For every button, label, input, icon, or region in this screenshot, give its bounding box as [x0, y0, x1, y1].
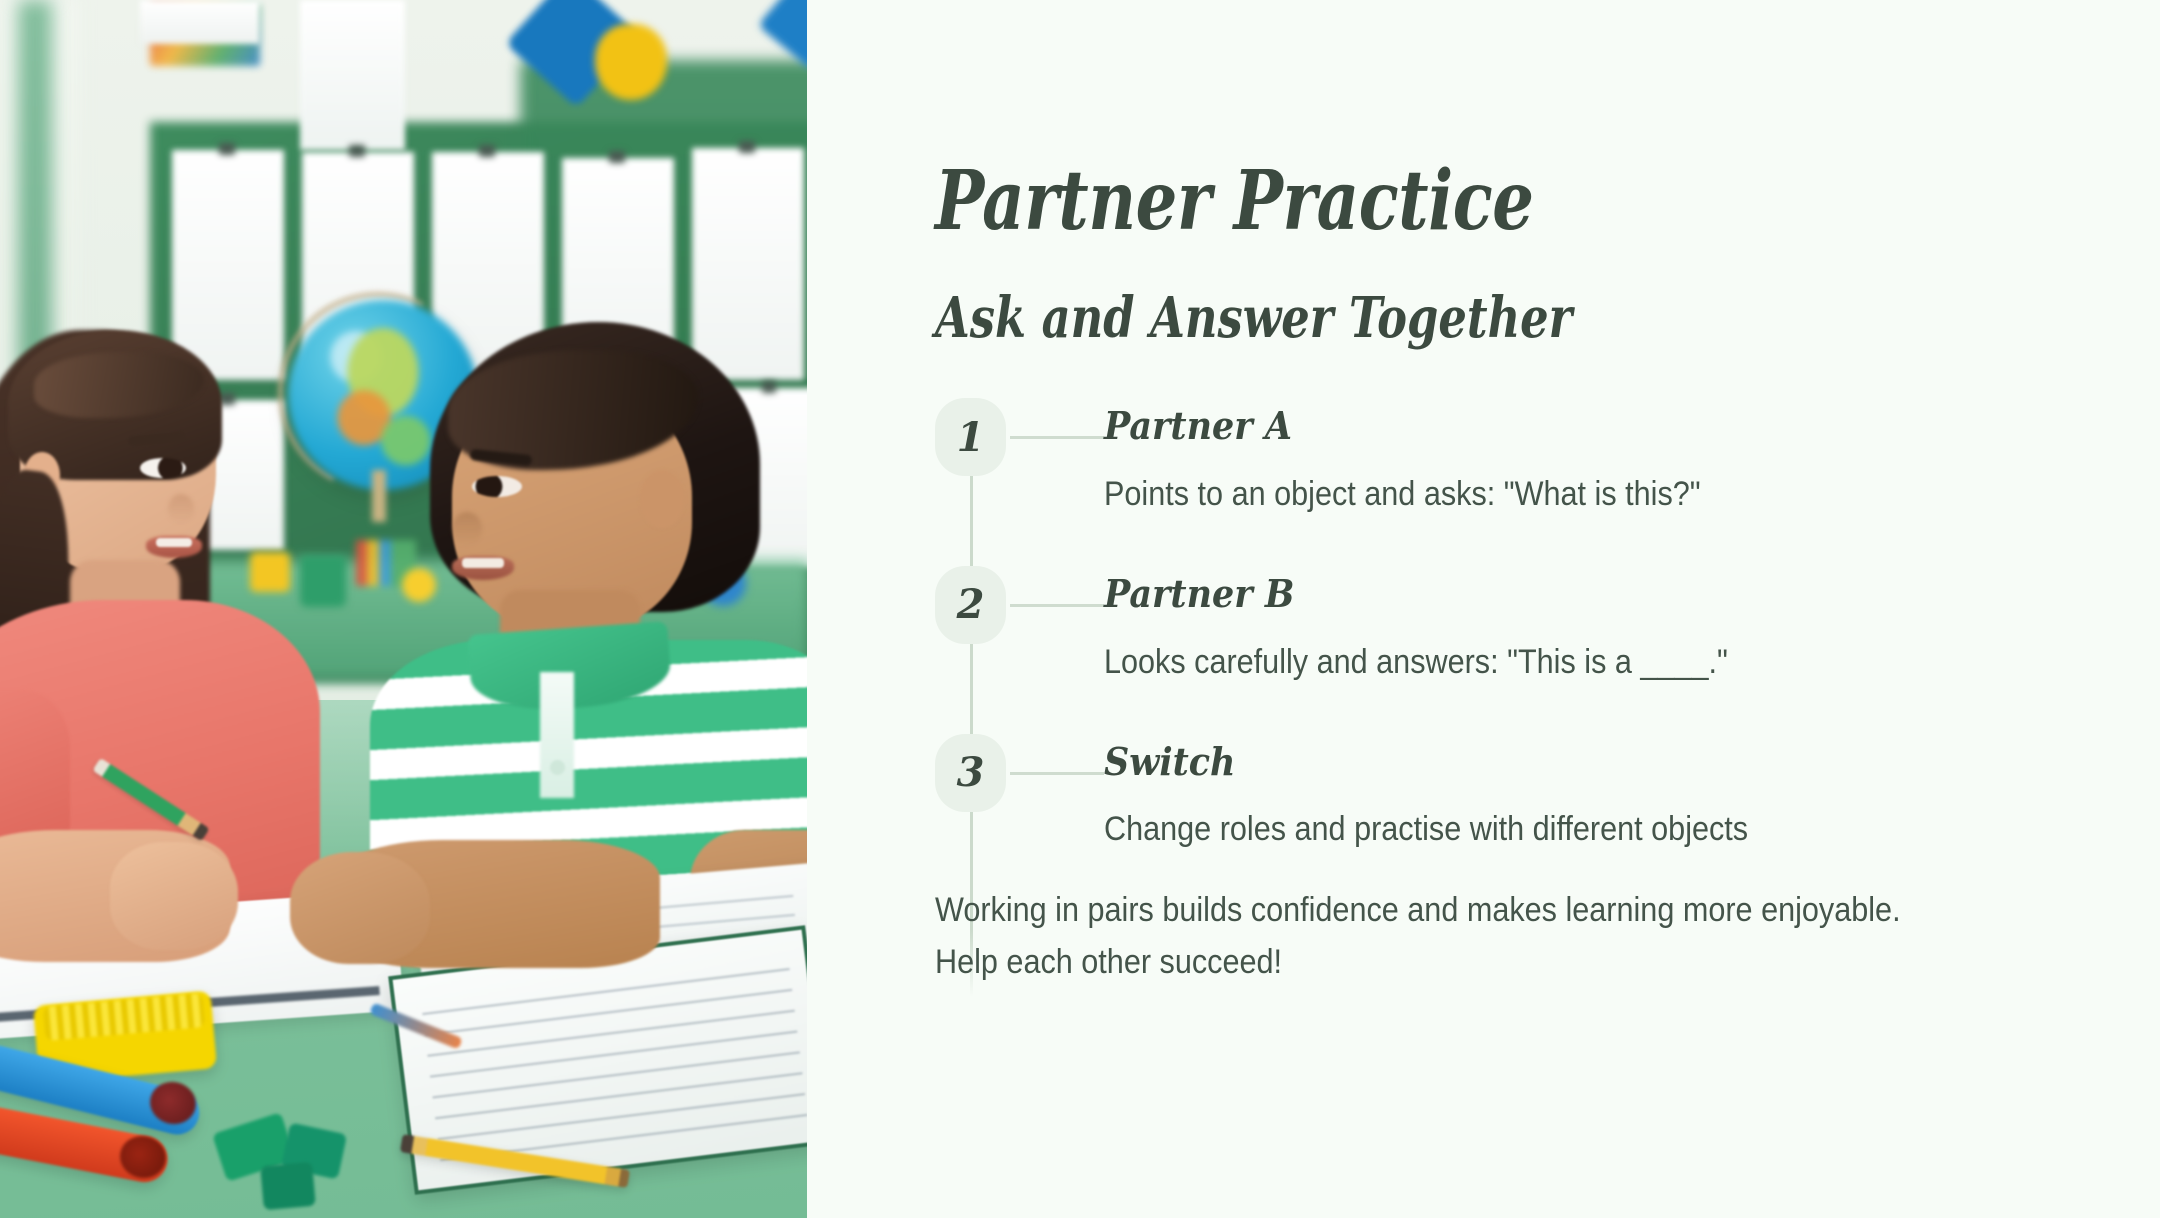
- step-description: Points to an object and asks: "What is t…: [1104, 472, 1919, 516]
- supply-cup-green: [300, 555, 346, 607]
- step-description: Change roles and practise with different…: [1104, 807, 1919, 851]
- slide-partner-practice: Partner Practice Ask and Answer Together…: [0, 0, 2160, 1218]
- wall-paper-tall: [300, 0, 405, 150]
- wall-paper-top: [140, 0, 260, 44]
- supply-ball-yellow: [402, 568, 436, 602]
- step-number-badge: 3: [935, 734, 1006, 812]
- step-description: Looks carefully and answers: "This is a …: [1104, 640, 1919, 684]
- list-item: 3 Switch Change roles and practise with …: [935, 734, 2010, 874]
- hanging-yellow-ball: [595, 24, 667, 100]
- closing-paragraph: Working in pairs builds confidence and m…: [935, 884, 1903, 989]
- step-connector-line: [1006, 398, 1104, 476]
- step-connector-line: [1006, 566, 1104, 644]
- step-content: Partner B Looks carefully and answers: "…: [1104, 566, 2010, 684]
- boy-placket: [540, 672, 574, 798]
- board-paper: [172, 150, 284, 380]
- step-number-badge: 1: [935, 398, 1006, 476]
- step-connector-line: [1006, 734, 1104, 812]
- classroom-photo: [0, 0, 807, 1218]
- step-label: Partner B: [1104, 572, 1938, 616]
- boy-ear: [640, 470, 684, 528]
- boy-teeth: [462, 558, 504, 568]
- step-number-badge: 2: [935, 566, 1006, 644]
- boy-eye: [472, 476, 522, 497]
- content-panel: Partner Practice Ask and Answer Together…: [807, 0, 2160, 1218]
- step-content: Partner A Points to an object and asks: …: [1104, 398, 2010, 516]
- globe-stand: [372, 470, 386, 522]
- list-item: 2 Partner B Looks carefully and answers:…: [935, 566, 2010, 734]
- list-item: 1 Partner A Points to an object and asks…: [935, 398, 2010, 566]
- page-title: Partner Practice: [935, 160, 1795, 242]
- boy-hand: [290, 852, 430, 964]
- girl-hand: [110, 842, 238, 950]
- page-subtitle: Ask and Answer Together: [935, 290, 1795, 346]
- supply-cup-yellow: [250, 552, 290, 592]
- girl-nose: [168, 494, 194, 524]
- step-label: Partner A: [1104, 404, 1938, 448]
- boy-nose: [452, 512, 482, 546]
- steps-list: 1 Partner A Points to an object and asks…: [935, 398, 2010, 874]
- green-block: [260, 1162, 316, 1210]
- board-paper: [692, 148, 804, 380]
- step-label: Switch: [1104, 740, 1938, 784]
- girl-eye: [140, 458, 186, 478]
- girl-teeth: [156, 538, 192, 547]
- boy-shirt-button: [550, 760, 565, 775]
- step-content: Switch Change roles and practise with di…: [1104, 734, 2010, 852]
